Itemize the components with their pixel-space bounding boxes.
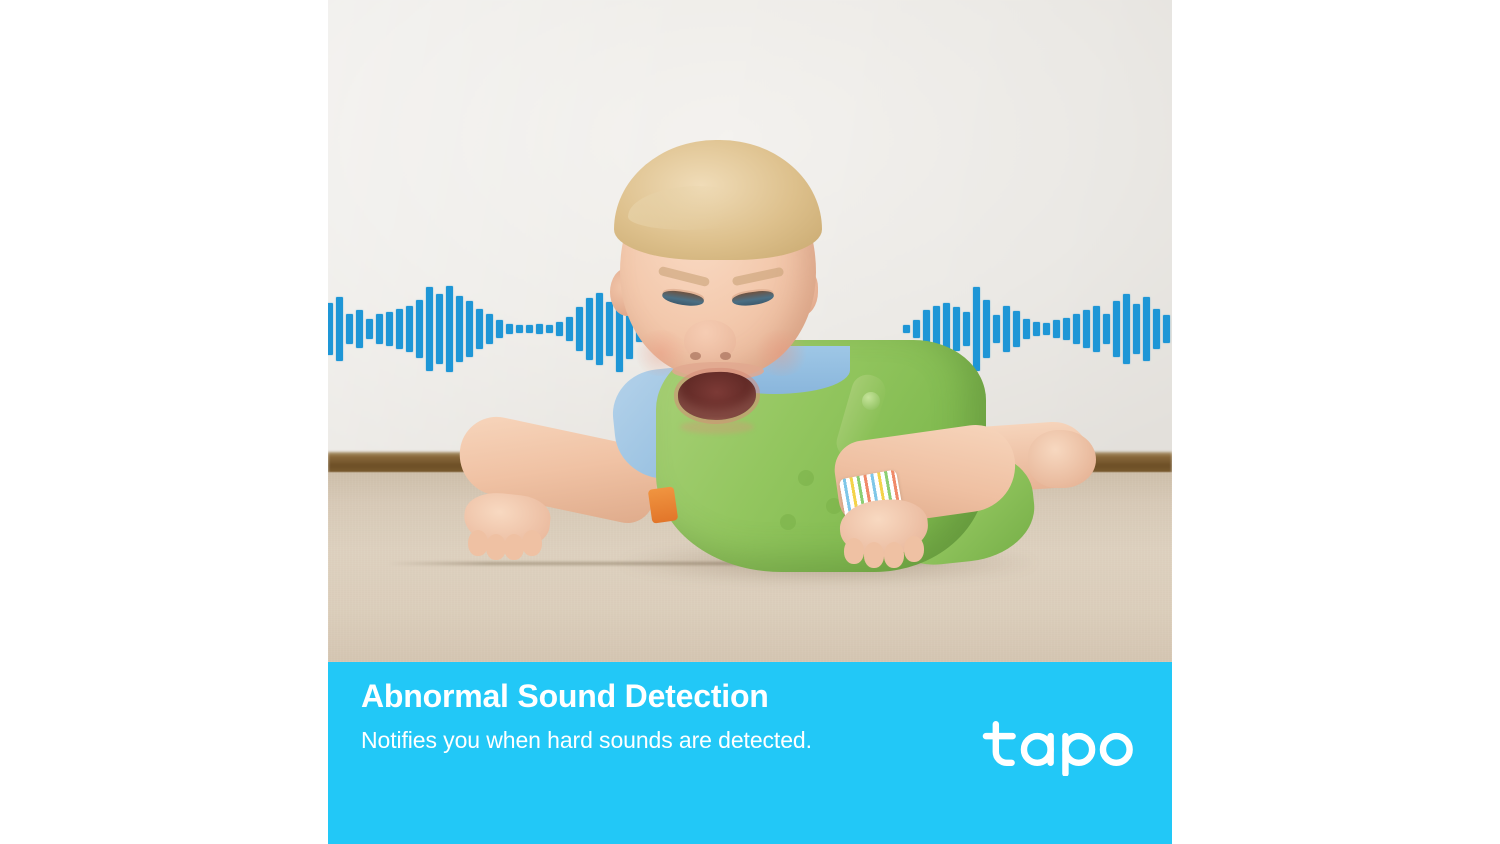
overall-dot: [780, 514, 796, 530]
baby-finger: [844, 538, 864, 564]
screenshot-root: Abnormal Sound Detection Notifies you wh…: [0, 0, 1500, 844]
baby-finger: [522, 530, 542, 556]
photo-scene: [328, 0, 1172, 662]
baby-finger: [864, 542, 884, 568]
tapo-logo: [982, 714, 1140, 776]
baby-foot: [1028, 430, 1096, 488]
overall-button: [862, 392, 880, 410]
baby-finger: [904, 536, 924, 562]
baby-finger: [504, 534, 524, 560]
product-feature-card: Abnormal Sound Detection Notifies you wh…: [328, 0, 1172, 844]
feature-subtitle: Notifies you when hard sounds are detect…: [361, 727, 812, 754]
baby-chin: [680, 420, 754, 434]
caption-banner: Abnormal Sound Detection Notifies you wh…: [328, 662, 1172, 844]
overall-orange-tag: [648, 486, 678, 523]
baby-finger: [468, 530, 488, 556]
baby-finger: [486, 534, 506, 560]
baby-nostril-right: [720, 352, 731, 360]
crying-baby-subject: [328, 0, 1172, 662]
feature-title: Abnormal Sound Detection: [361, 678, 769, 715]
baby-finger: [884, 542, 904, 568]
overall-dot: [798, 470, 814, 486]
baby-nostril-left: [690, 352, 701, 360]
